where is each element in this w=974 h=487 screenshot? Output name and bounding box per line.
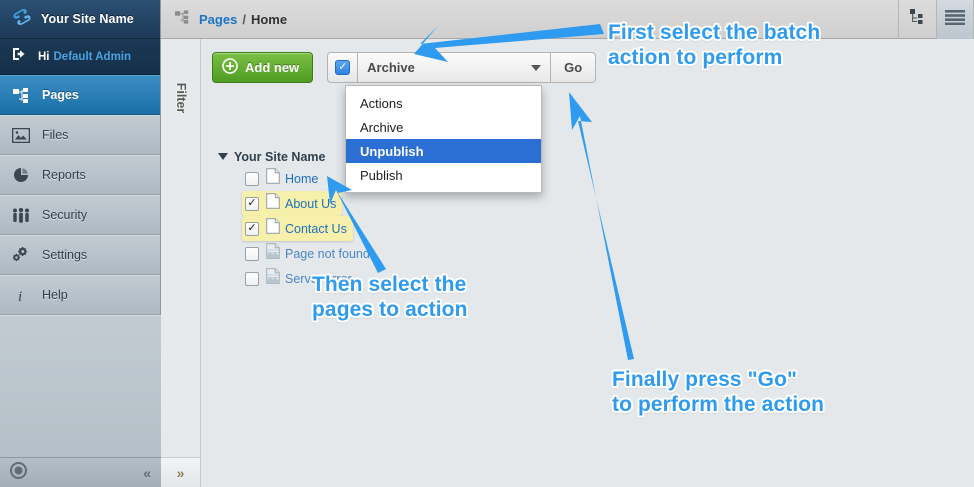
annotation-first: First select the batch action to perform xyxy=(608,20,820,70)
batch-action-value: Archive xyxy=(367,60,415,75)
add-new-button[interactable]: Add new xyxy=(212,52,313,83)
page-disabled-icon xyxy=(266,243,280,264)
annotation-line: pages to action xyxy=(312,297,468,322)
breadcrumb: Pages / Home xyxy=(161,10,287,29)
dropdown-option-archive[interactable]: Archive xyxy=(346,115,541,139)
expand-filter-button[interactable]: » xyxy=(177,465,185,481)
batch-action-dropdown[interactable]: Actions Archive Unpublish Publish xyxy=(345,85,542,193)
triangle-down-icon[interactable] xyxy=(218,153,228,160)
tree-root-label: Your Site Name xyxy=(234,150,325,164)
annotation-finally: Finally press "Go" to perform the action xyxy=(612,367,824,417)
svg-text:i: i xyxy=(18,289,22,303)
username-label: Default Admin xyxy=(54,51,132,63)
record-icon[interactable] xyxy=(10,462,27,484)
breadcrumb-separator: / xyxy=(242,12,246,27)
image-icon xyxy=(12,126,30,144)
sidebar-item-label: Reports xyxy=(42,168,86,182)
annotation-line: Then select the xyxy=(312,272,468,297)
plus-circle-icon xyxy=(222,58,238,77)
silverstripe-logo-icon xyxy=(12,8,32,31)
sidebar-brand[interactable]: Your Site Name xyxy=(0,0,160,39)
dropdown-option-unpublish[interactable]: Unpublish xyxy=(346,139,541,163)
hamburger-icon xyxy=(945,9,965,30)
sidebar-filler xyxy=(0,315,161,457)
admin-page: Your Site Name Hi Default Admin xyxy=(0,0,974,487)
page-icon xyxy=(266,193,280,214)
sidebar-item-help[interactable]: i Help xyxy=(0,275,160,315)
sidebar-item-settings[interactable]: Settings xyxy=(0,235,160,275)
sidebar-item-files[interactable]: Files xyxy=(0,115,160,155)
breadcrumb-parent[interactable]: Pages xyxy=(199,12,237,27)
batch-action-group: ✓ Archive Go xyxy=(327,52,596,83)
tree-item-page-not-found[interactable]: Page not found xyxy=(218,241,376,266)
list-view-button[interactable] xyxy=(936,0,974,39)
page-label: About Us xyxy=(285,197,336,211)
brand-label: Your Site Name xyxy=(41,12,134,26)
page-label: Home xyxy=(285,172,318,186)
topbar-actions xyxy=(898,0,974,39)
page-label: Contact Us xyxy=(285,222,347,236)
dropdown-option-publish[interactable]: Publish xyxy=(346,163,541,187)
page-disabled-icon xyxy=(266,268,280,289)
sidebar-item-label: Settings xyxy=(42,248,87,262)
batch-action-select[interactable]: Archive xyxy=(357,52,551,83)
sidebar-item-reports[interactable]: Reports xyxy=(0,155,160,195)
main-sidebar: Your Site Name Hi Default Admin xyxy=(0,0,161,487)
breadcrumb-current: Home xyxy=(251,12,287,27)
go-button[interactable]: Go xyxy=(551,52,596,83)
page-icon xyxy=(266,168,280,189)
greeting-label: Hi xyxy=(38,51,50,63)
sidebar-item-label: Files xyxy=(42,128,68,142)
annotation-line: First select the batch xyxy=(608,20,820,45)
page-checkbox[interactable] xyxy=(245,172,259,186)
chevron-down-icon xyxy=(531,65,541,71)
page-checkbox[interactable]: ✓ xyxy=(245,222,259,236)
sitemap-icon xyxy=(12,86,30,104)
sidebar-item-label: Help xyxy=(42,288,68,302)
info-icon: i xyxy=(12,286,30,304)
sidebar-item-pages[interactable]: Pages xyxy=(0,75,160,115)
filter-label: Filter xyxy=(174,83,188,114)
logout-icon[interactable] xyxy=(12,47,28,66)
annotation-line: Finally press "Go" xyxy=(612,367,824,392)
sidebar-item-security[interactable]: Security xyxy=(0,195,160,235)
page-icon xyxy=(266,218,280,239)
sidebar-item-label: Security xyxy=(42,208,87,222)
select-all-checkbox[interactable]: ✓ xyxy=(335,60,350,75)
annotation-then: Then select the pages to action xyxy=(312,272,468,322)
page-checkbox[interactable]: ✓ xyxy=(245,197,259,211)
sidebar-item-label: Pages xyxy=(42,88,79,102)
dropdown-option-actions[interactable]: Actions xyxy=(346,91,541,115)
annotation-line: action to perform xyxy=(608,45,820,70)
filter-expand-bar: » xyxy=(161,457,201,487)
add-new-label: Add new xyxy=(245,60,299,75)
content-panel: Add new ✓ Archive Go Your Site Name xyxy=(201,39,974,487)
users-icon xyxy=(12,206,30,224)
sitemap-icon xyxy=(175,10,190,29)
page-checkbox[interactable] xyxy=(245,247,259,261)
tree-item-contact-us[interactable]: ✓ Contact Us xyxy=(218,216,376,241)
gears-icon xyxy=(12,246,30,264)
filter-panel[interactable]: Filter xyxy=(161,39,201,457)
collapse-sidebar-button[interactable]: « xyxy=(143,465,151,481)
select-all-cell[interactable]: ✓ xyxy=(327,52,357,83)
sidebar-user[interactable]: Hi Default Admin xyxy=(0,39,160,75)
tree-item-about-us[interactable]: ✓ About Us xyxy=(218,191,376,216)
page-label: Page not found xyxy=(285,247,370,261)
annotation-line: to perform the action xyxy=(612,392,824,417)
top-bar: Pages / Home xyxy=(161,0,974,39)
sidebar-bottom-bar: « xyxy=(0,457,161,487)
batch-actions-toolbar: Add new ✓ Archive Go xyxy=(212,52,596,83)
go-label: Go xyxy=(564,60,582,75)
sitemap-icon xyxy=(909,9,926,30)
page-checkbox[interactable] xyxy=(245,272,259,286)
tree-view-button[interactable] xyxy=(898,0,936,39)
pie-chart-icon xyxy=(12,166,30,184)
